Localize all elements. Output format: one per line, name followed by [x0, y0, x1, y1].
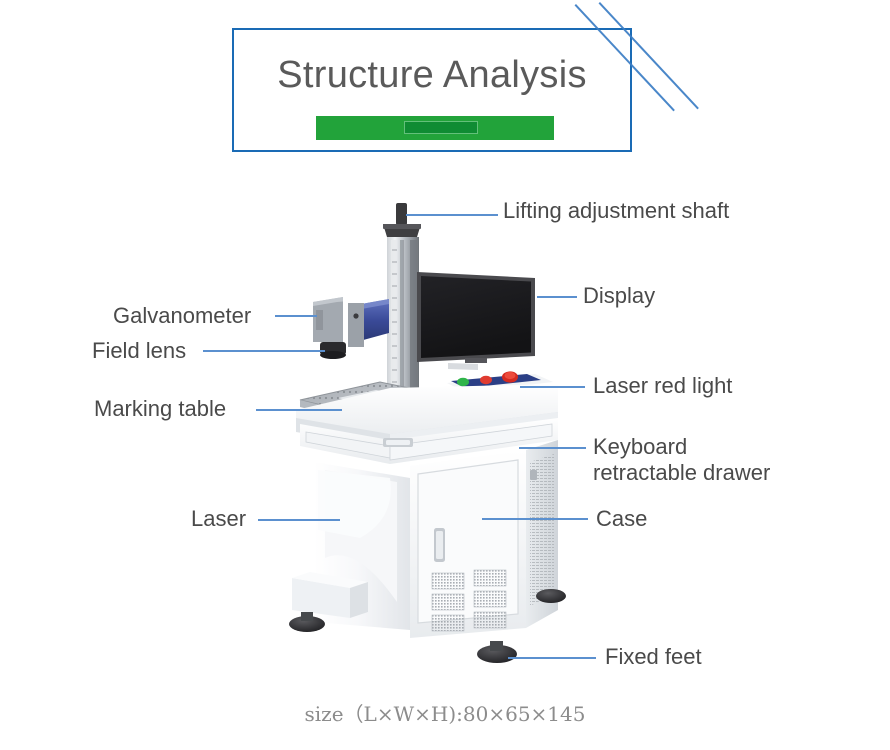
label-keyboard-retractable-drawer: Keyboardretractable drawer	[593, 434, 770, 486]
label-laser-red-light: Laser red light	[593, 373, 732, 399]
label-keyboard-line2: retractable drawer	[593, 460, 770, 485]
leader-case	[482, 518, 588, 520]
title-accent-bar-inner	[404, 121, 478, 134]
cabinet-case	[292, 440, 558, 638]
leader-display	[537, 296, 577, 298]
label-laser: Laser	[191, 506, 246, 532]
leader-lifting-adjustment-shaft	[406, 214, 498, 216]
green-start-button	[457, 378, 469, 386]
leader-field-lens	[203, 350, 325, 352]
label-fixed-feet: Fixed feet	[605, 644, 702, 670]
leader-laser-red-light	[520, 386, 585, 388]
label-display: Display	[583, 283, 655, 309]
label-lifting-adjustment-shaft: Lifting adjustment shaft	[503, 198, 729, 224]
page-title: Structure Analysis	[232, 52, 632, 98]
leader-laser	[258, 519, 340, 521]
leader-fixed-feet	[508, 657, 596, 659]
label-field-lens: Field lens	[92, 338, 186, 364]
label-keyboard-line1: Keyboard	[593, 434, 687, 459]
leader-keyboard-retractable-drawer	[519, 447, 586, 449]
label-case: Case	[596, 506, 647, 532]
label-marking-table: Marking table	[94, 396, 226, 422]
lifting-adjustment-shaft-part	[383, 203, 421, 237]
label-galvanometer: Galvanometer	[113, 303, 251, 329]
leader-marking-table	[256, 409, 342, 411]
display-monitor	[417, 272, 535, 370]
size-caption: size（L×W×H):80×65×145	[0, 698, 890, 727]
leader-galvanometer	[275, 315, 317, 317]
red-button	[480, 376, 492, 384]
